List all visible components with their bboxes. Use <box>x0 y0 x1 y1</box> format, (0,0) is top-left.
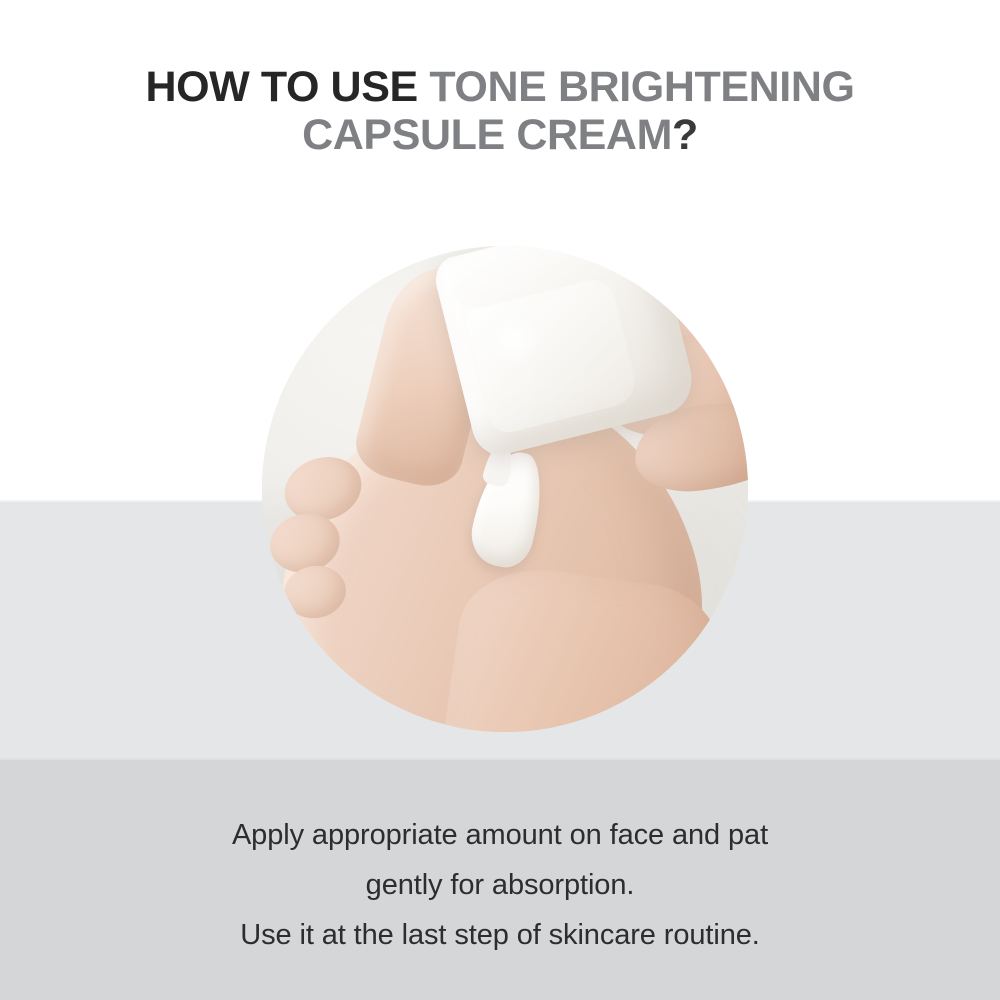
title-product-name-part1: TONE BRIGHTENING <box>429 63 854 111</box>
usage-instructions: Apply appropriate amount on face and pat… <box>0 810 1000 960</box>
title-emphasis: HOW TO USE <box>145 63 429 111</box>
title-product-name-part2: CAPSULE CREAM <box>302 111 672 159</box>
instruction-line-1: Apply appropriate amount on face and pat <box>0 810 1000 860</box>
instruction-line-2: gently for absorption. <box>0 860 1000 910</box>
instruction-line-3: Use it at the last step of skincare rout… <box>0 910 1000 960</box>
usage-photo-circle <box>262 246 748 732</box>
question-mark: ? <box>672 111 698 159</box>
title-line-1: HOW TO USE TONE BRIGHTENING <box>0 63 1000 111</box>
page-title: HOW TO USE TONE BRIGHTENING CAPSULE CREA… <box>0 63 1000 159</box>
title-line-2: CAPSULE CREAM? <box>0 111 1000 159</box>
product-usage-infographic: HOW TO USE TONE BRIGHTENING CAPSULE CREA… <box>0 0 1000 1000</box>
